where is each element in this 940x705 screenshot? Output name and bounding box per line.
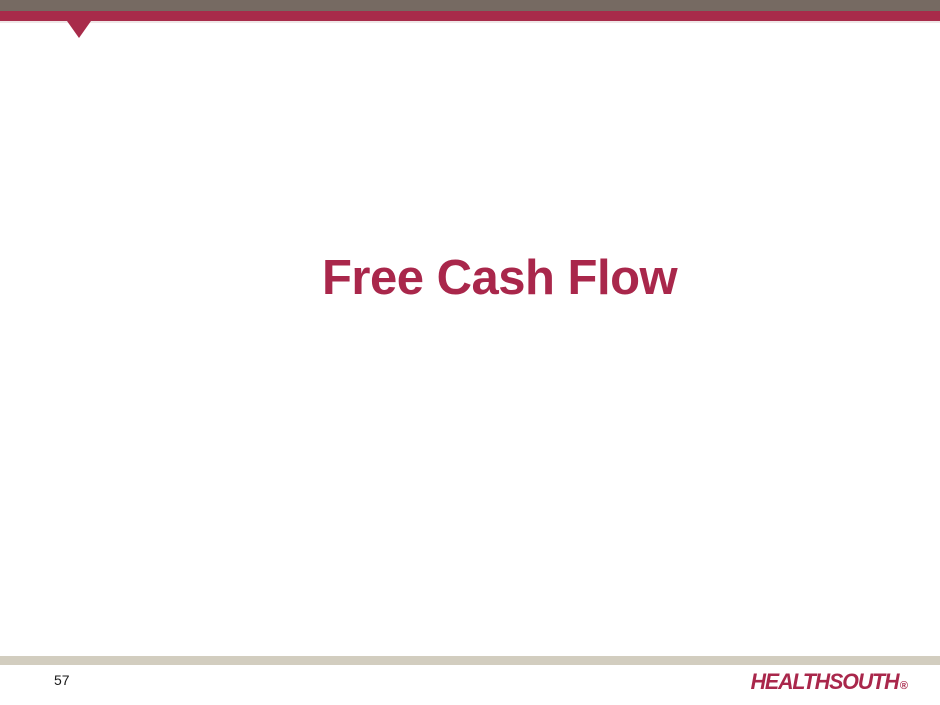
slide-title: Free Cash Flow — [322, 252, 677, 306]
slide-top-banner — [0, 0, 940, 24]
page-number: 57 — [54, 673, 70, 687]
banner-hairline-divider — [0, 21, 940, 23]
brand-logo-wordmark: HEALTHSOUTH — [751, 671, 899, 693]
footer-divider-rule — [0, 656, 940, 665]
presentation-slide: Free Cash Flow 57 HEALTHSOUTH ® — [0, 0, 940, 705]
brand-logo: HEALTHSOUTH ® — [746, 671, 908, 693]
slide-content-area: Free Cash Flow — [0, 24, 940, 656]
banner-gray-band — [0, 0, 940, 11]
banner-crimson-band — [0, 11, 940, 21]
registered-trademark-icon: ® — [900, 681, 908, 692]
